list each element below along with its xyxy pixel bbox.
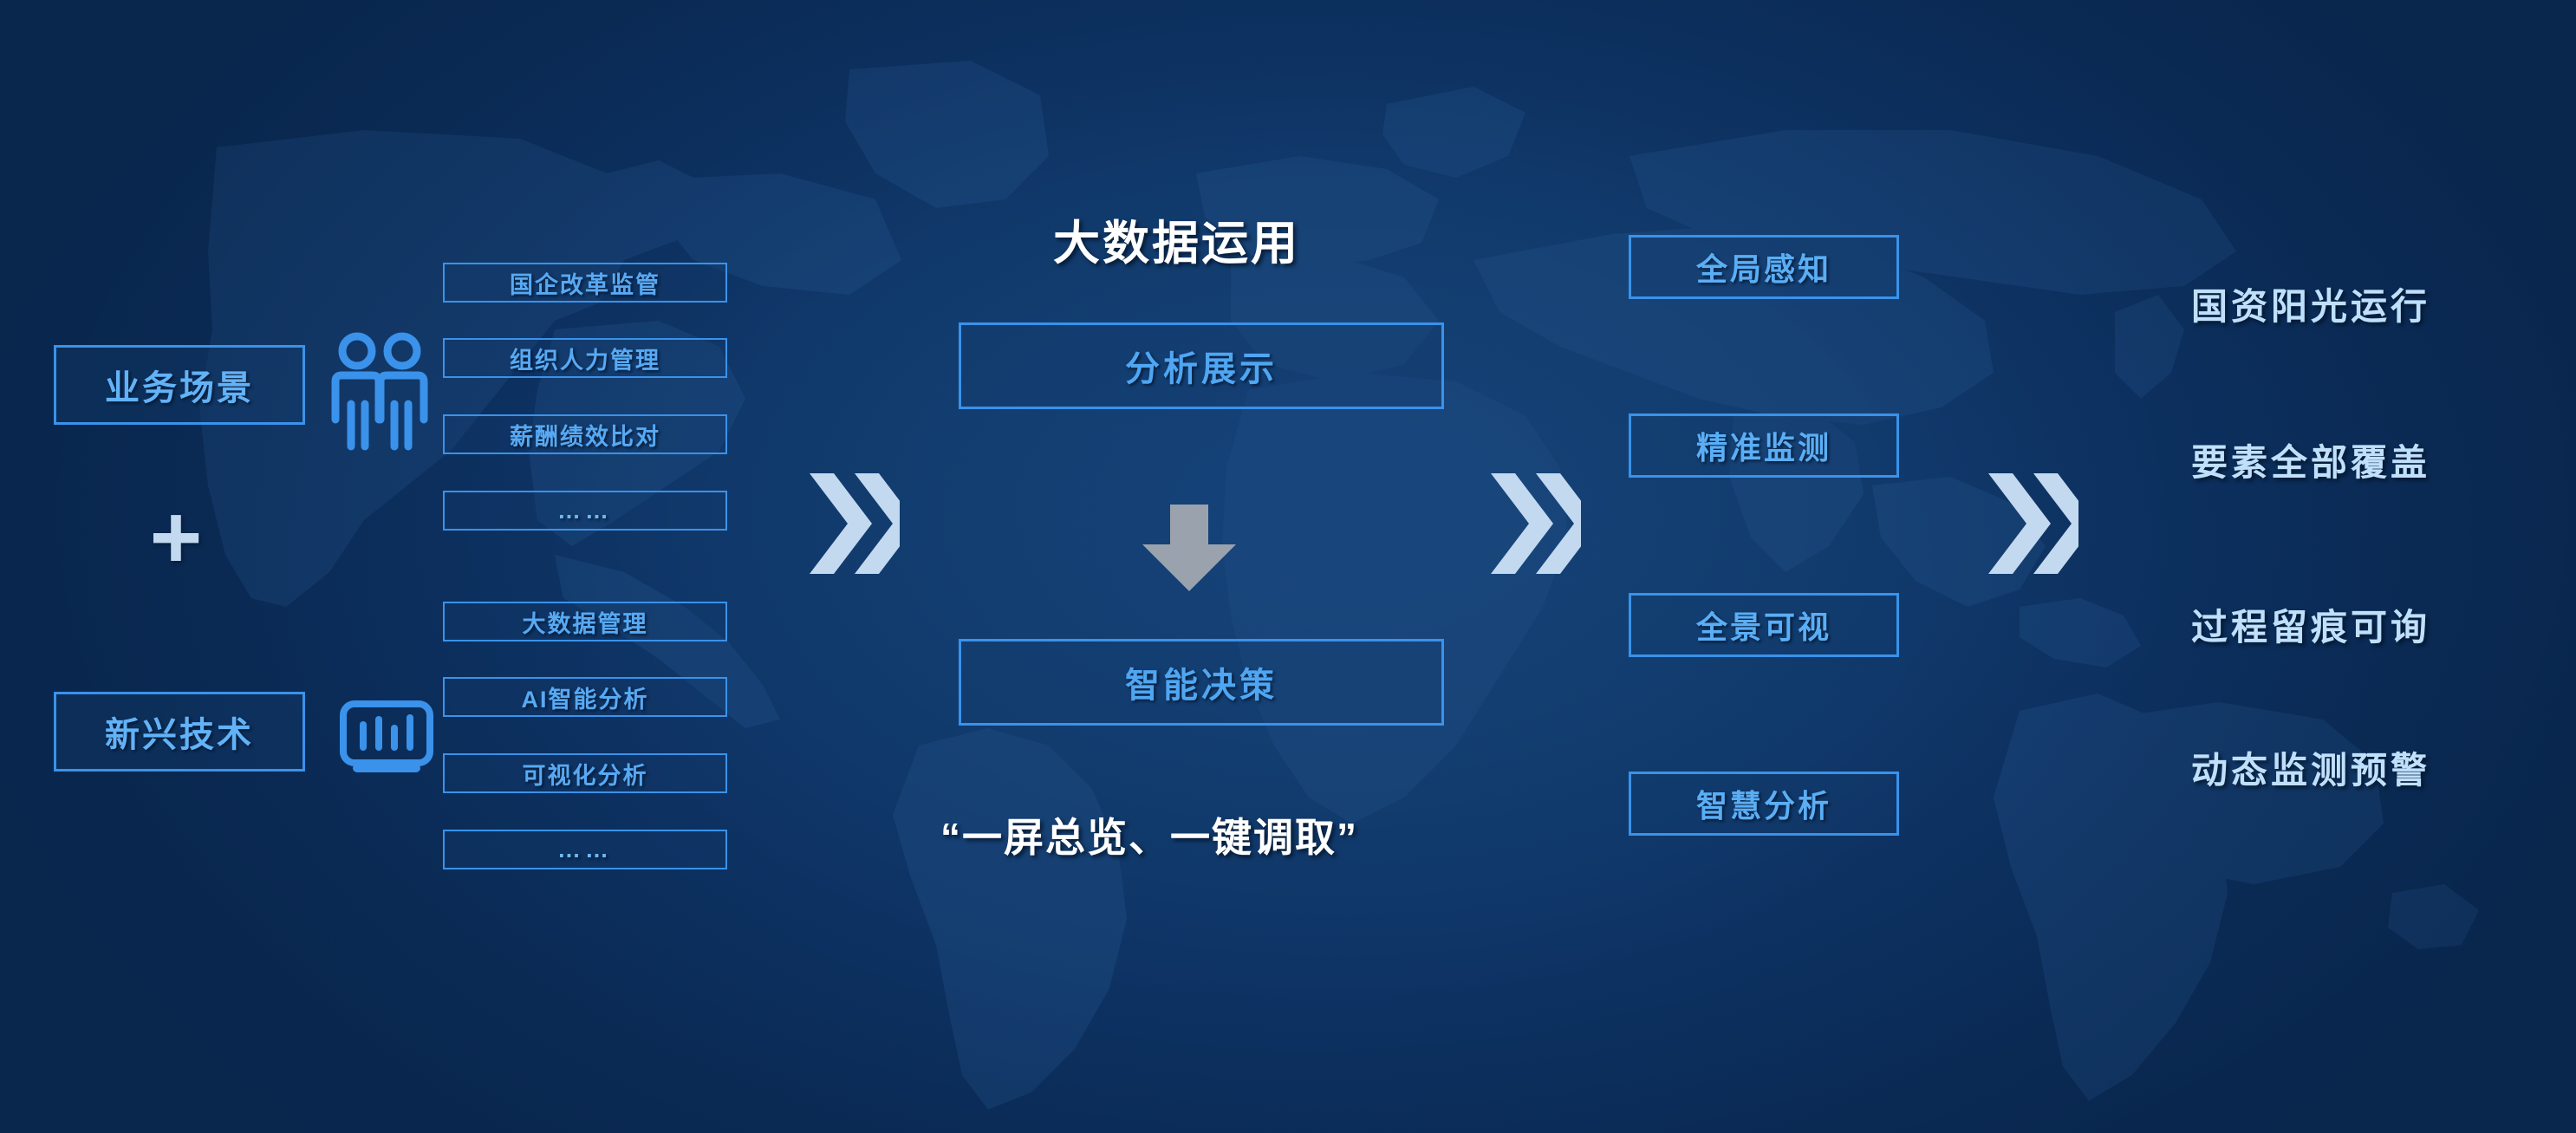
plus-sign: + — [139, 503, 213, 577]
center-step-analysis[interactable]: 分析展示 — [959, 322, 1444, 409]
list-item-business-1[interactable]: 组织人力管理 — [443, 338, 727, 378]
list-item-label: 大数据管理 — [523, 605, 648, 639]
down-arrow-icon — [1137, 501, 1241, 596]
list-item-label: AI智能分析 — [522, 680, 649, 714]
center-step-decision[interactable]: 智能决策 — [959, 639, 1444, 726]
list-item-business-2[interactable]: 薪酬绩效比对 — [443, 414, 727, 454]
people-icon — [325, 328, 434, 453]
slogan-text: “一屏总览、一键调取” — [940, 806, 1358, 863]
anchor-box-business-scenarios[interactable]: 业务场景 — [54, 345, 305, 425]
capability-box-0[interactable]: 全局感知 — [1629, 235, 1899, 299]
capability-label: 全景可视 — [1696, 602, 1831, 648]
list-item-label: 国企改革监管 — [510, 266, 660, 300]
anchor-box-emerging-technologies[interactable]: 新兴技术 — [54, 692, 305, 772]
anchor-label-business-scenarios: 业务场景 — [105, 360, 254, 410]
capability-label: 精准监测 — [1696, 423, 1831, 468]
capability-label: 智慧分析 — [1696, 781, 1831, 826]
list-item-tech-1[interactable]: AI智能分析 — [443, 677, 727, 717]
double-chevron-right-icon-3 — [1985, 468, 2078, 579]
list-item-tech-0[interactable]: 大数据管理 — [443, 602, 727, 641]
outcome-text-2: 过程留痕可询 — [2191, 598, 2430, 651]
list-item-tech-3-ellipsis[interactable]: …… — [443, 830, 727, 869]
outcome-text-0: 国资阳光运行 — [2191, 277, 2430, 330]
center-step-label: 智能决策 — [1125, 657, 1278, 707]
capability-box-1[interactable]: 精准监测 — [1629, 413, 1899, 478]
outcome-text-3: 动态监测预警 — [2191, 741, 2430, 794]
world-map-background — [0, 0, 2576, 1133]
list-item-label: …… — [557, 837, 613, 863]
bar-chart-monitor-icon — [338, 699, 435, 789]
list-item-label: 可视化分析 — [523, 757, 648, 791]
capability-box-2[interactable]: 全景可视 — [1629, 593, 1899, 657]
list-item-label: 组织人力管理 — [510, 342, 660, 375]
center-step-label: 分析展示 — [1125, 341, 1278, 391]
list-item-label: 薪酬绩效比对 — [510, 418, 660, 452]
list-item-business-0[interactable]: 国企改革监管 — [443, 263, 727, 303]
list-item-business-3-ellipsis[interactable]: …… — [443, 491, 727, 531]
outcome-text-1: 要素全部覆盖 — [2191, 433, 2430, 486]
list-item-tech-2[interactable]: 可视化分析 — [443, 753, 727, 793]
double-chevron-right-icon-1 — [806, 468, 900, 579]
slide-canvas: 业务场景 新兴技术 + — [0, 0, 2576, 1133]
double-chevron-right-icon-2 — [1487, 468, 1581, 579]
anchor-label-emerging-technologies: 新兴技术 — [105, 706, 254, 757]
vignette-overlay — [0, 0, 2576, 1133]
list-item-label: …… — [557, 498, 613, 524]
page-title: 大数据运用 — [1053, 205, 1300, 273]
capability-box-3[interactable]: 智慧分析 — [1629, 772, 1899, 836]
capability-label: 全局感知 — [1696, 244, 1831, 290]
